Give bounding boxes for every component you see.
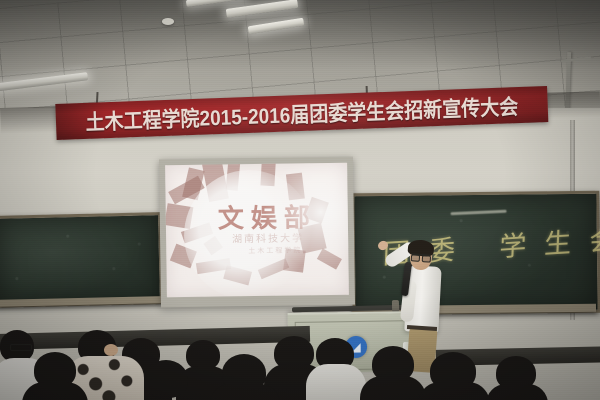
audience-hand	[104, 344, 118, 356]
audience-body	[486, 384, 548, 400]
left-blackboard	[0, 212, 163, 308]
audience-head	[144, 360, 188, 398]
glasses-icon	[10, 344, 32, 351]
chalk-dust	[0, 215, 160, 305]
audience-body	[418, 382, 490, 400]
glasses-icon	[411, 253, 431, 260]
slide-subtitle-college: 土木工程学院	[248, 245, 302, 256]
projection-screen: 文娱部 湖南科技大学 土木工程学院	[165, 163, 349, 298]
audience-body	[306, 364, 366, 400]
audience-body	[360, 376, 426, 400]
slide-subtitle-university: 湖南科技大学	[232, 229, 304, 245]
audience-body	[210, 384, 280, 400]
photo-scene: 土木工程学院2015-2016届团委学生会招新宣传大会 团委 学生会	[0, 0, 600, 400]
smoke-detector-icon	[162, 18, 174, 25]
audience-body	[22, 382, 88, 400]
